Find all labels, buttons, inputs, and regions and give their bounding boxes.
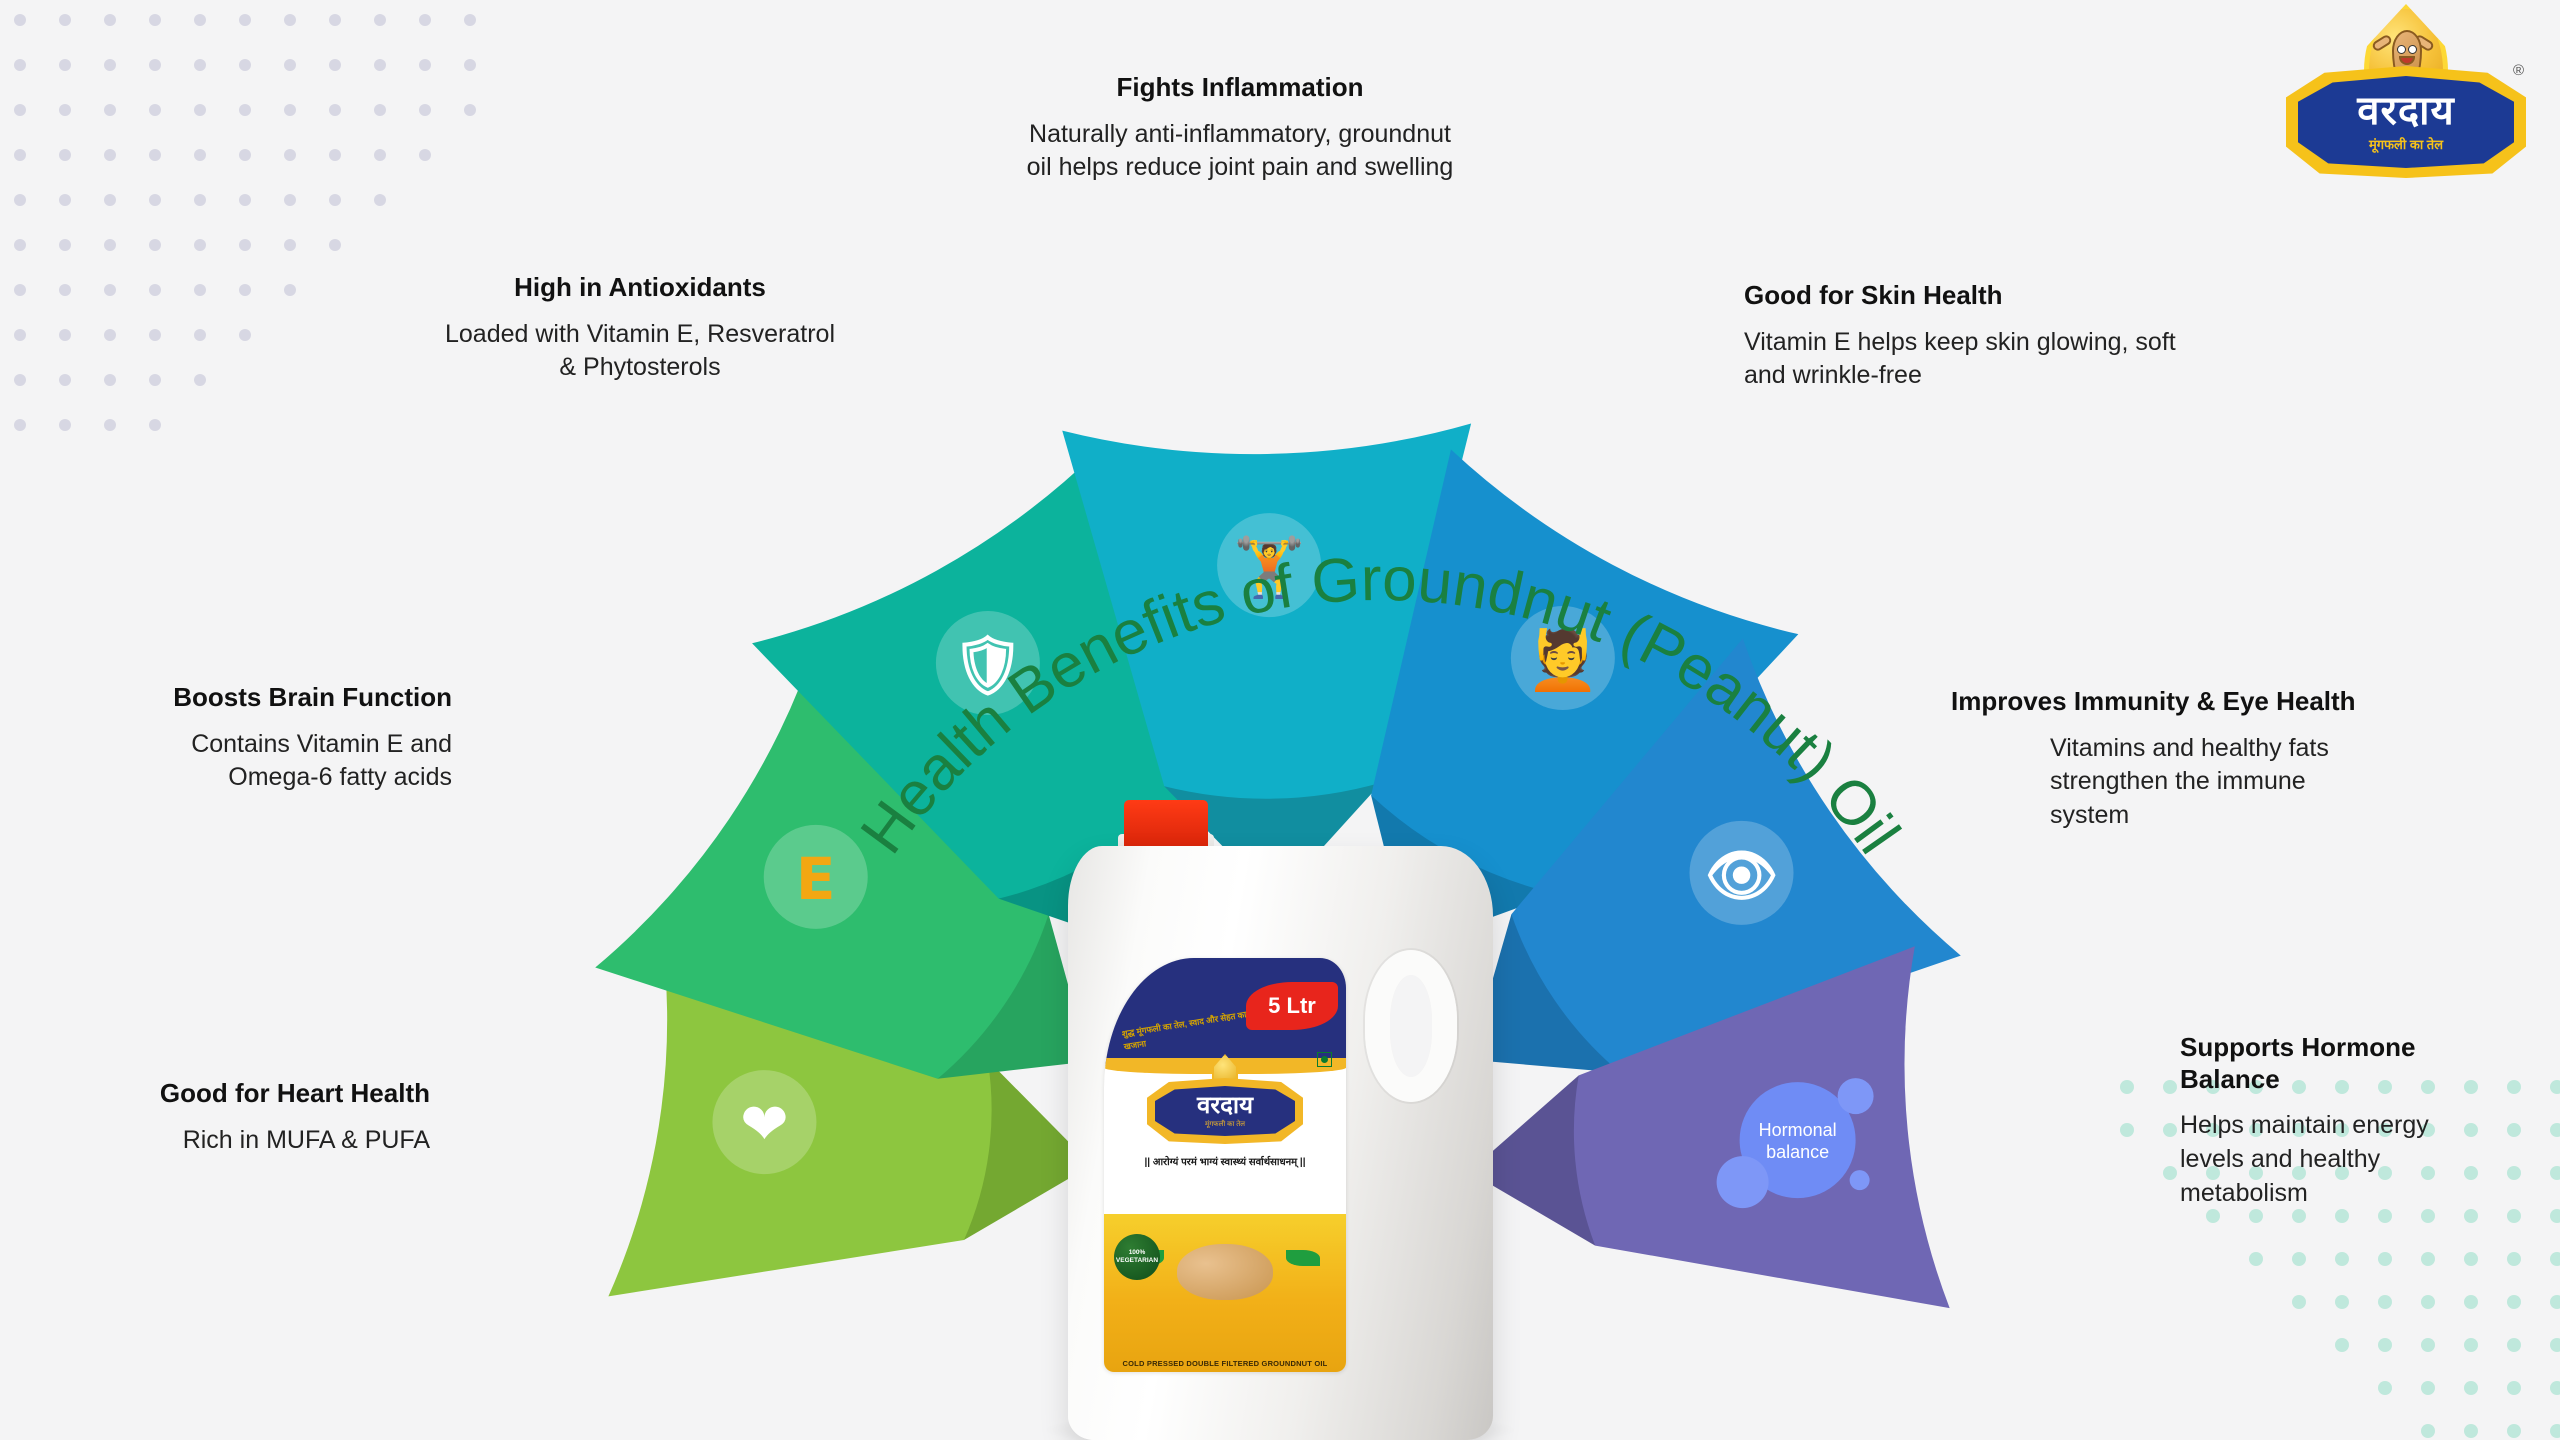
callout-fights-inflammation: Fights Inflammation Naturally anti-infla… (1020, 72, 1460, 185)
decor-dot (2421, 1295, 2435, 1309)
decor-dot (14, 374, 26, 386)
decor-dot (194, 14, 206, 26)
callout-title: Boosts Brain Function (100, 682, 452, 714)
wedge-pointer (1470, 914, 1635, 1073)
callout-title: Fights Inflammation (1020, 72, 1460, 104)
wedge-improves-immunity-eye-health[interactable]: 👁 (1470, 638, 1961, 1072)
decor-dot (14, 419, 26, 431)
decor-dot (2507, 1338, 2521, 1352)
shield-virus-icon (936, 611, 1040, 715)
label-shloka: || आरोग्यं परमं भाग्यं स्वास्थ्यं सर्वार… (1104, 1154, 1346, 1168)
decor-dot (2507, 1252, 2521, 1266)
decor-dot (2507, 1166, 2521, 1180)
callout-title: Good for Heart Health (110, 1078, 430, 1110)
decor-dot (149, 419, 161, 431)
decor-dot (2378, 1209, 2392, 1223)
decor-dot (2550, 1166, 2560, 1180)
decor-dot (464, 59, 476, 71)
decor-dot (2507, 1424, 2521, 1438)
callout-title: High in Antioxidants (440, 272, 840, 304)
decor-dot (14, 14, 26, 26)
decor-dot (194, 374, 206, 386)
decor-dot (2550, 1424, 2560, 1438)
decor-dot (2292, 1252, 2306, 1266)
decor-dot (2378, 1295, 2392, 1309)
decor-dot (2249, 1252, 2263, 1266)
decor-dot (329, 149, 341, 161)
label-vegetarian-badge: 100% VEGETARIAN (1114, 1234, 1160, 1280)
bottle-handle (1365, 950, 1457, 1102)
callout-description: Naturally anti-inflammatory, groundnut o… (1020, 118, 1460, 186)
wedge-pointer (893, 1060, 1091, 1240)
wedge-pointer (924, 914, 1090, 1079)
decor-dot (374, 194, 386, 206)
decor-dot (104, 239, 116, 251)
label-brand-name: वरदाय (1197, 1094, 1253, 1118)
decor-dot (2120, 1123, 2134, 1137)
decor-dot (329, 104, 341, 116)
decor-dot (2335, 1252, 2349, 1266)
decor-dot (2421, 1252, 2435, 1266)
decor-dot (104, 59, 116, 71)
decor-dot (149, 374, 161, 386)
decor-dot (239, 149, 251, 161)
label-peanuts-icon (1177, 1244, 1273, 1300)
decor-dot (59, 239, 71, 251)
callout-title: Improves Immunity & Eye Health (1951, 686, 2391, 718)
decor-dot (2507, 1080, 2521, 1094)
label-brand-plaque: वरदाय मूंगफली का तेल (1147, 1078, 1303, 1144)
decor-dot (2249, 1209, 2263, 1223)
registered-trademark-icon: ® (2513, 62, 2524, 79)
wedge-icon-glyph: 🛡 (951, 631, 1025, 699)
wedge-icon-glyph: 💆 (1527, 625, 1599, 694)
decor-dot (2464, 1338, 2478, 1352)
decor-dot (464, 104, 476, 116)
brand-logo: वरदाय मूंगफली का तेल ® (2286, 4, 2526, 194)
callout-description: Vitamin E helps keep skin glowing, soft … (1744, 326, 2194, 394)
decor-dot (149, 59, 161, 71)
decor-dot (2421, 1209, 2435, 1223)
decor-dot (2550, 1381, 2560, 1395)
decor-dot (104, 194, 116, 206)
vegetarian-mark-icon (1317, 1052, 1332, 1067)
decor-dot (149, 104, 161, 116)
decor-dot (2507, 1209, 2521, 1223)
wedge-pointer (1469, 1075, 1668, 1245)
callout-description: Loaded with Vitamin E, Resveratrol & Phy… (440, 318, 840, 386)
callout-high-in-antioxidants: High in Antioxidants Loaded with Vitamin… (440, 272, 840, 385)
decor-dot (2464, 1295, 2478, 1309)
decor-dot (2421, 1424, 2435, 1438)
decor-dot (149, 329, 161, 341)
decor-dot (14, 194, 26, 206)
decor-dot (14, 59, 26, 71)
decor-dot (2163, 1080, 2177, 1094)
decor-dot (329, 59, 341, 71)
decor-dot (2378, 1338, 2392, 1352)
decor-dot (239, 329, 251, 341)
decor-dot (419, 104, 431, 116)
eye-in-hand-icon (1690, 821, 1794, 925)
decor-dot (59, 59, 71, 71)
callout-description: Rich in MUFA & PUFA (110, 1124, 430, 1158)
decor-dot (419, 59, 431, 71)
bottle-body: 5 Ltr शुद्ध मूंगफली का तेल, स्वाद और सेह… (1068, 846, 1493, 1440)
hormonal-balance-bubble-icon (1740, 1082, 1856, 1198)
decor-dot (2507, 1123, 2521, 1137)
decor-dot (239, 104, 251, 116)
bubble-label: balance (1766, 1142, 1829, 1162)
wedge-body (1574, 946, 1950, 1308)
decor-dot (2550, 1252, 2560, 1266)
decor-dot (194, 284, 206, 296)
decor-dot (2550, 1123, 2560, 1137)
wedge-supports-hormone-balance[interactable]: Hormonalbalance (1469, 946, 1950, 1308)
decor-dot (329, 239, 341, 251)
decor-dot (2464, 1209, 2478, 1223)
product-label: 5 Ltr शुद्ध मूंगफली का तेल, स्वाद और सेह… (1104, 958, 1346, 1372)
bubble-dot-icon (1838, 1078, 1874, 1114)
callout-title: Good for Skin Health (1744, 280, 2194, 312)
wedge-icon-glyph: ❤ (740, 1090, 789, 1158)
decor-dot (464, 14, 476, 26)
decor-dot (104, 419, 116, 431)
callout-description: Helps maintain energy levels and healthy… (2180, 1109, 2480, 1210)
decor-dot (2421, 1338, 2435, 1352)
decor-dot (149, 194, 161, 206)
decor-dot (2378, 1381, 2392, 1395)
logo-plaque: वरदाय मूंगफली का तेल (2286, 66, 2526, 178)
label-footer-text: COLD PRESSED DOUBLE FILTERED GROUNDNUT O… (1104, 1359, 1346, 1368)
heart-in-hand-shield-icon (712, 1070, 816, 1174)
decor-dot (239, 194, 251, 206)
decor-dot (374, 59, 386, 71)
decor-dot (59, 284, 71, 296)
callout-description: Vitamins and healthy fats strengthen the… (2050, 732, 2350, 833)
decor-dot (104, 149, 116, 161)
logo-brand-tagline: मूंगफली का तेल (2369, 135, 2443, 153)
decor-dot (239, 284, 251, 296)
decor-dot (2507, 1295, 2521, 1309)
callout-good-for-heart-health: Good for Heart Health Rich in MUFA & PUF… (110, 1078, 430, 1157)
bubble-dot-icon (1717, 1156, 1769, 1208)
wedge-good-for-heart-health[interactable]: ❤ (608, 913, 1091, 1296)
wedge-icon-glyph: 🏋 (1233, 533, 1305, 601)
decor-dot (2335, 1209, 2349, 1223)
decor-dot (419, 14, 431, 26)
wedge-icon-glyph: E (796, 845, 836, 913)
decor-dot (59, 329, 71, 341)
decor-dot (284, 194, 296, 206)
decor-dot (2163, 1123, 2177, 1137)
decor-dot (2550, 1080, 2560, 1094)
decor-dot (194, 329, 206, 341)
decor-dot (2421, 1381, 2435, 1395)
decor-dot (149, 239, 161, 251)
decor-dot (14, 149, 26, 161)
flexing-muscles-man-icon (1217, 513, 1321, 617)
decor-dot (2292, 1295, 2306, 1309)
decor-dot (284, 149, 296, 161)
decor-dot (374, 149, 386, 161)
decor-dot (59, 14, 71, 26)
decor-dot (284, 239, 296, 251)
decor-dot (2120, 1080, 2134, 1094)
callout-improves-immunity-eye-health: Improves Immunity & Eye Health Vitamins … (2050, 686, 2350, 833)
decor-dot (14, 104, 26, 116)
decor-dot (239, 14, 251, 26)
decor-dot (104, 104, 116, 116)
wedge-icon-glyph: 👁 (1705, 841, 1779, 909)
logo-brand-name: वरदाय (2357, 91, 2454, 131)
label-leaf-right-icon (1286, 1250, 1320, 1266)
decor-dot (59, 419, 71, 431)
spa-facial-woman-icon (1511, 606, 1615, 710)
decor-dot (59, 374, 71, 386)
callout-description: Contains Vitamin E and Omega-6 fatty aci… (100, 728, 452, 796)
decor-dot (2292, 1209, 2306, 1223)
decor-dot (2550, 1295, 2560, 1309)
decor-dot (284, 59, 296, 71)
wedge-body (608, 913, 991, 1296)
decor-dot (149, 14, 161, 26)
callout-supports-hormone-balance: Supports Hormone Balance Helps maintain … (2180, 1032, 2480, 1211)
decor-dot (284, 284, 296, 296)
bubble-label: Hormonal (1759, 1120, 1837, 1140)
decor-dot (149, 149, 161, 161)
decor-dot (59, 149, 71, 161)
bubble-dot-icon (1850, 1170, 1870, 1190)
decor-dot (329, 194, 341, 206)
decor-dot (104, 14, 116, 26)
wedge-body (1062, 423, 1471, 798)
decor-dot (329, 14, 341, 26)
decor-dot (194, 239, 206, 251)
decor-dot (14, 239, 26, 251)
decor-dot (104, 284, 116, 296)
decor-dot (194, 194, 206, 206)
decor-dot (2464, 1381, 2478, 1395)
decor-dot (14, 329, 26, 341)
decor-dot (2378, 1252, 2392, 1266)
decor-dot (194, 149, 206, 161)
decor-dot (2206, 1209, 2220, 1223)
infographic-canvas: वरदाय मूंगफली का तेल ® ❤E🛡🏋💆👁Hormonalbal… (0, 0, 2560, 1440)
decor-dot (2507, 1381, 2521, 1395)
decor-dot (374, 104, 386, 116)
decor-dot (149, 284, 161, 296)
wedge-body (1511, 638, 1960, 1072)
callout-boosts-brain-function: Boosts Brain Function Contains Vitamin E… (100, 682, 452, 795)
decorative-dots-top-left (14, 14, 434, 394)
decor-dot (374, 14, 386, 26)
product-bottle: 5 Ltr शुद्ध मूंगफली का तेल, स्वाद और सेह… (1068, 800, 1493, 1440)
decor-dot (2335, 1295, 2349, 1309)
decor-dot (284, 104, 296, 116)
wedge-boosts-brain-function[interactable]: E (595, 638, 1089, 1078)
vitamin-e-capsule-icon (764, 825, 868, 929)
decor-dot (2163, 1166, 2177, 1180)
decor-dot (194, 104, 206, 116)
decor-dot (2335, 1338, 2349, 1352)
decor-dot (104, 329, 116, 341)
decor-dot (2464, 1252, 2478, 1266)
decor-dot (194, 59, 206, 71)
callout-title: Supports Hormone Balance (2180, 1032, 2480, 1095)
callout-good-for-skin-health: Good for Skin Health Vitamin E helps kee… (1744, 280, 2194, 393)
decor-dot (59, 194, 71, 206)
decor-dot (284, 14, 296, 26)
decor-dot (2550, 1338, 2560, 1352)
wedge-body (595, 638, 1048, 1078)
decor-dot (419, 149, 431, 161)
label-brand-tagline: मूंगफली का तेल (1205, 1120, 1245, 1129)
decor-dot (2464, 1424, 2478, 1438)
decor-dot (239, 59, 251, 71)
decor-dot (14, 284, 26, 296)
decor-dot (2550, 1209, 2560, 1223)
decor-dot (239, 239, 251, 251)
decor-dot (59, 104, 71, 116)
decor-dot (104, 374, 116, 386)
